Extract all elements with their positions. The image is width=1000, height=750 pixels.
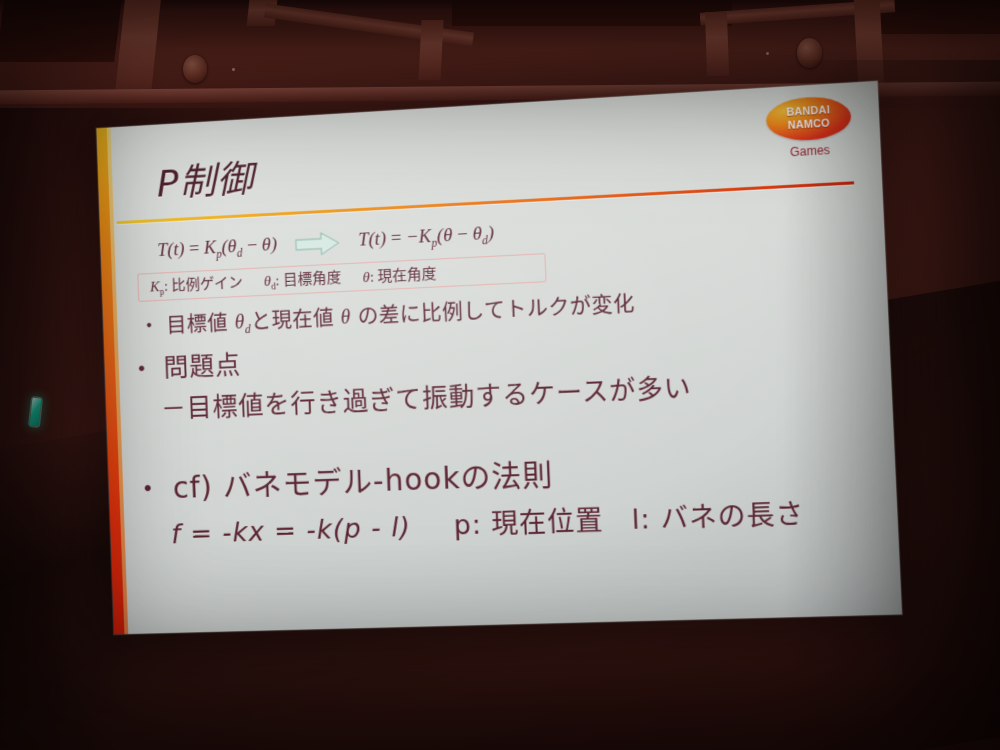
photo-vignette [0,0,1000,750]
photo-scene: BANDAI NAMCO Games P制御 T(t) = Kp(θd − θ)… [0,0,1000,750]
